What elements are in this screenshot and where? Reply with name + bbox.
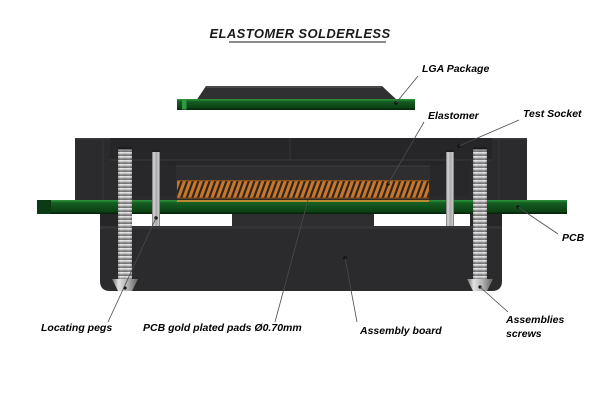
- lga-pin1-notch: [182, 100, 187, 110]
- peg-left-top: [152, 150, 160, 152]
- pcb: [37, 200, 567, 214]
- lga-substrate: [177, 99, 415, 110]
- peg-left-body: [152, 150, 160, 226]
- label-lga-package: LGA Package: [422, 63, 489, 75]
- elastomer: [177, 180, 429, 199]
- lga-die: [196, 86, 398, 101]
- label-locating-pegs: Locating pegs: [41, 322, 112, 334]
- pcb-left-tip: [37, 200, 51, 214]
- lga-package: [177, 86, 415, 110]
- locating-peg-left: [152, 150, 160, 226]
- pcb-bottom-edge: [37, 212, 567, 214]
- locating-peg-right: [446, 150, 454, 226]
- assembly-board-body: [100, 226, 502, 291]
- pcb-body: [37, 200, 567, 214]
- screw-right-tip: [473, 147, 487, 149]
- peg-right-body: [446, 150, 454, 226]
- page-title: ELASTOMER SOLDERLESS: [209, 26, 390, 41]
- elastomer-bottom-edge: [177, 198, 429, 199]
- elastomer-body: [177, 180, 429, 199]
- lga-substrate-bottom-edge: [177, 108, 415, 110]
- label-assemblies-screws-line2: screws: [506, 328, 542, 340]
- screw-left-tip: [118, 147, 132, 149]
- elastomer-top-edge: [177, 180, 429, 181]
- screw-left-threads: [118, 147, 132, 279]
- label-assembly-board: Assembly board: [359, 325, 442, 337]
- label-pcb: PCB: [562, 232, 585, 244]
- elastomer-solderless-assembly-diagram: ELASTOMER SOLDERLESS: [0, 0, 600, 400]
- screw-right-threads: [473, 147, 487, 279]
- peg-right-top: [446, 150, 454, 152]
- pcb-gold-pads: [177, 200, 429, 202]
- assembly-board: [100, 214, 527, 291]
- label-elastomer: Elastomer: [428, 110, 480, 122]
- lga-substrate-top-edge: [177, 99, 415, 101]
- label-test-socket: Test Socket: [523, 108, 582, 120]
- leader-lga-package: [396, 76, 418, 103]
- lga-die-highlight: [206, 86, 382, 88]
- label-assemblies-screws-line1: Assemblies: [505, 314, 565, 326]
- diagram-canvas: ELASTOMER SOLDERLESS: [0, 0, 600, 400]
- label-pcb-gold-plated-pads: PCB gold plated pads Ø0.70mm: [143, 322, 302, 334]
- diagram-title: ELASTOMER SOLDERLESS: [209, 26, 390, 42]
